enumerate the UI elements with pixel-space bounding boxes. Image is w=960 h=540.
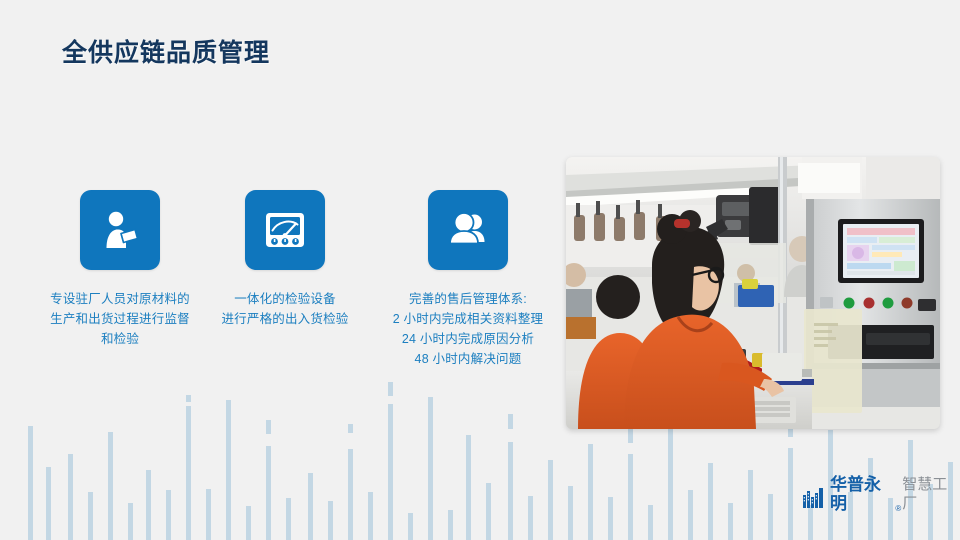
logo-company-name: 华普永明 (830, 475, 895, 513)
decor-bar (768, 494, 773, 540)
gauge-meter-icon (245, 190, 325, 270)
feature-item-after-sales: 完善的售后管理体系: 2 小时内完成相关资料整理 24 小时内完成原因分析 48… (368, 190, 568, 369)
decor-bar (186, 406, 191, 540)
decor-bar (166, 490, 171, 540)
two-users-icon (428, 190, 508, 270)
decor-bar (608, 497, 613, 540)
decor-bar (68, 454, 73, 540)
page-title: 全供应链品质管理 (62, 33, 270, 69)
feature-description: 专设驻厂人员对原材料的 生产和出货过程进行监督 和检验 (20, 289, 220, 349)
decor-bar (368, 492, 373, 540)
brand-logo: 华普永明 ® 智慧工厂 (803, 489, 960, 513)
decor-bar (668, 428, 673, 540)
decor-bar (528, 496, 533, 540)
decor-bar (388, 404, 393, 540)
decor-bar (588, 444, 593, 540)
decor-bar (448, 510, 453, 540)
decor-bar (648, 505, 653, 540)
logo-subtitle: 智慧工厂 (902, 475, 960, 513)
decor-bar (508, 442, 513, 540)
decor-bar (428, 498, 433, 507)
decor-bar (226, 518, 231, 528)
decor-bar (688, 490, 693, 540)
decor-bar (146, 470, 151, 540)
factory-production-line-photo (566, 157, 940, 429)
feature-line: 48 小时内解决问题 (368, 349, 568, 369)
decor-bar (568, 486, 573, 540)
decor-bar (708, 463, 713, 540)
decor-bar (46, 467, 51, 540)
slide-root: 全供应链品质管理 专设驻厂人员对原材料的 生产和出货过程进行监督 和检验 (0, 0, 960, 540)
decor-bar (548, 460, 553, 540)
feature-line: 和检验 (20, 329, 220, 349)
decor-bar (108, 432, 113, 540)
feature-line: 完善的售后管理体系: (368, 289, 568, 309)
feature-line: 24 小时内完成原因分析 (368, 329, 568, 349)
decor-bar (206, 489, 211, 540)
feature-description: 一体化的检验设备 进行严格的出入货检验 (195, 289, 375, 329)
decor-bar (88, 492, 93, 540)
building-skyline-icon (803, 488, 825, 513)
decor-bar (348, 449, 353, 540)
decor-bar (466, 523, 471, 531)
decor-bar (286, 498, 291, 540)
decor-bar (246, 506, 251, 540)
feature-description: 完善的售后管理体系: 2 小时内完成相关资料整理 24 小时内完成原因分析 48… (368, 289, 568, 369)
decor-bar (328, 501, 333, 540)
decor-bar (408, 513, 413, 540)
decor-bar (728, 503, 733, 540)
feature-line: 进行严格的出入货检验 (195, 309, 375, 329)
feature-columns: 专设驻厂人员对原材料的 生产和出货过程进行监督 和检验 (0, 190, 560, 420)
decor-bar (308, 473, 313, 540)
decor-bar (788, 448, 793, 540)
decor-bar (628, 454, 633, 540)
feature-line: 2 小时内完成相关资料整理 (368, 309, 568, 329)
decor-bar (628, 428, 633, 443)
logo-registered-mark: ® (895, 504, 901, 513)
feature-line: 一体化的检验设备 (195, 289, 375, 309)
feature-item-testing-equipment: 一体化的检验设备 进行严格的出入货检验 (195, 190, 375, 329)
decor-bar (128, 503, 133, 540)
feature-item-inspection: 专设驻厂人员对原材料的 生产和出货过程进行监督 和检验 (20, 190, 220, 349)
decor-bar (266, 420, 271, 434)
decor-bar (28, 426, 33, 540)
decor-bar (748, 470, 753, 540)
decor-bar (266, 446, 271, 540)
feature-line: 专设驻厂人员对原材料的 (20, 289, 220, 309)
decor-bar (466, 435, 471, 540)
decor-bar (226, 400, 231, 540)
inspector-person-clipboard-icon (80, 190, 160, 270)
decor-bar (348, 424, 353, 433)
feature-line: 生产和出货过程进行监督 (20, 309, 220, 329)
decor-bar (486, 483, 491, 540)
